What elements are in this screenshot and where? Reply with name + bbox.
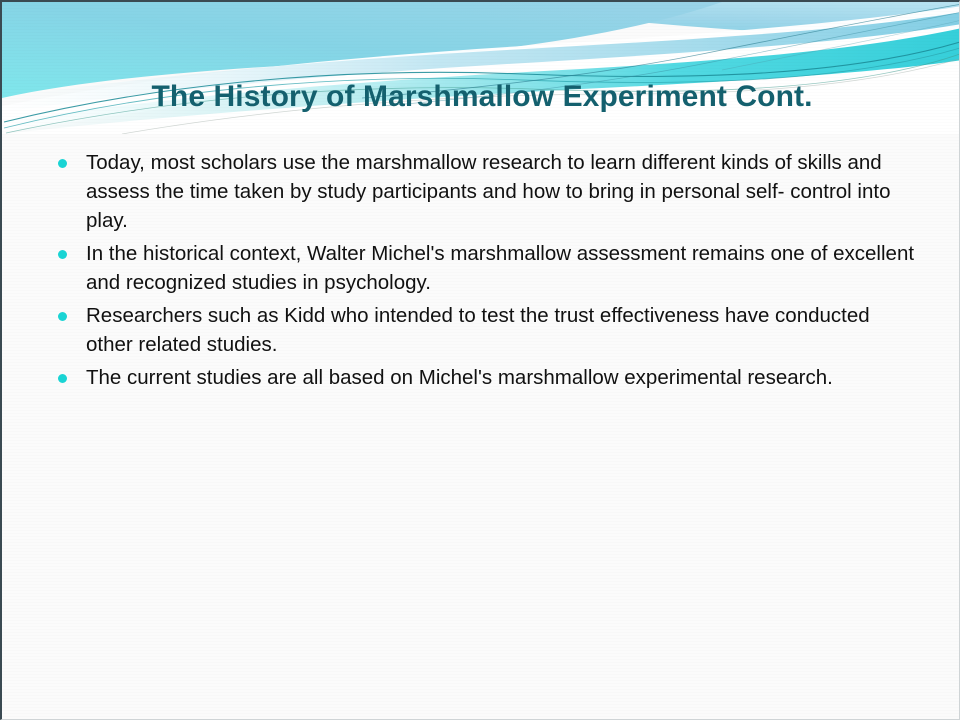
bullet-dot-icon <box>58 250 67 259</box>
list-item-text: The current studies are all based on Mic… <box>86 363 916 392</box>
list-item-text: In the historical context, Walter Michel… <box>86 239 916 297</box>
list-item-text: Today, most scholars use the marshmallow… <box>86 148 916 235</box>
slide-title: The History of Marshmallow Experiment Co… <box>2 80 960 114</box>
list-item-text: Researchers such as Kidd who intended to… <box>86 301 916 359</box>
presentation-slide: The History of Marshmallow Experiment Co… <box>0 0 960 720</box>
bullet-dot-icon <box>58 312 67 321</box>
wave-banner-decoration <box>2 2 960 134</box>
list-item: Researchers such as Kidd who intended to… <box>58 301 916 359</box>
bullet-dot-icon <box>58 159 67 168</box>
list-item: Today, most scholars use the marshmallow… <box>58 148 916 235</box>
slide-body-bullet-list: Today, most scholars use the marshmallow… <box>58 148 916 396</box>
list-item: In the historical context, Walter Michel… <box>58 239 916 297</box>
list-item: The current studies are all based on Mic… <box>58 363 916 392</box>
bullet-dot-icon <box>58 374 67 383</box>
